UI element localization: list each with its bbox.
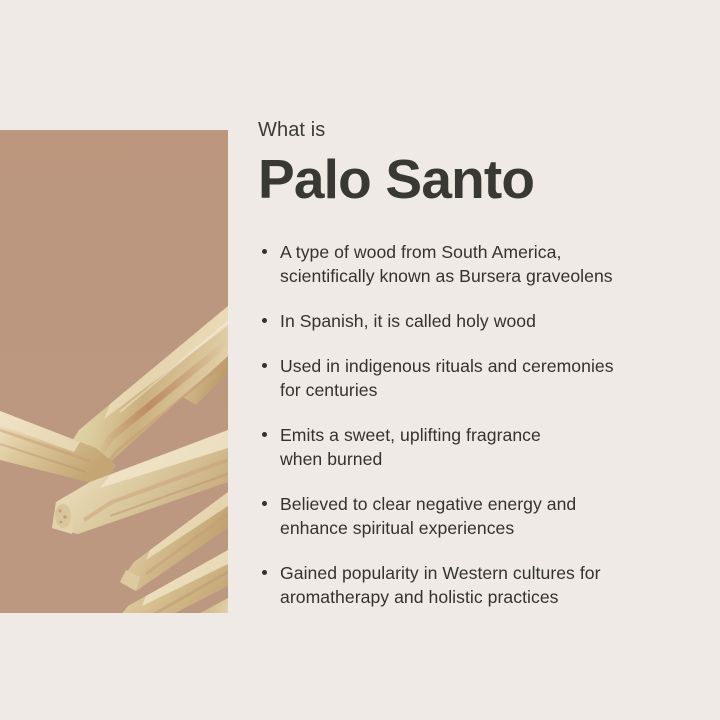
palo-santo-wood-illustration [0, 130, 228, 613]
bullet-dot-icon [262, 363, 267, 368]
bullet-dot-icon [262, 318, 267, 323]
page-title: Palo Santo [258, 148, 678, 210]
list-item-line: Used in indigenous rituals and ceremonie… [280, 354, 678, 378]
list-item: Believed to clear negative energy and en… [258, 492, 678, 540]
list-item: In Spanish, it is called holy wood [258, 309, 678, 333]
list-item-line: Gained popularity in Western cultures fo… [280, 561, 678, 585]
list-item-line: for centuries [280, 378, 678, 402]
list-item-line: Believed to clear negative energy and [280, 492, 678, 516]
eyebrow-label: What is [258, 118, 678, 142]
bullet-dot-icon [262, 501, 267, 506]
list-item: Emits a sweet, uplifting fragrance when … [258, 423, 678, 471]
list-item-line: when burned [280, 447, 678, 471]
list-item-line: A type of wood from South America, [280, 240, 678, 264]
bullet-dot-icon [262, 570, 267, 575]
list-item-line: In Spanish, it is called holy wood [280, 309, 678, 333]
bullet-dot-icon [262, 249, 267, 254]
bullet-dot-icon [262, 432, 267, 437]
list-item-line: enhance spiritual experiences [280, 516, 678, 540]
infographic-page: What is Palo Santo A type of wood from S… [0, 0, 720, 720]
list-item-line: Emits a sweet, uplifting fragrance [280, 423, 678, 447]
list-item-line: aromatherapy and holistic practices [280, 585, 678, 609]
text-column: What is Palo Santo A type of wood from S… [258, 118, 678, 609]
list-item: Used in indigenous rituals and ceremonie… [258, 354, 678, 402]
list-item-line: scientifically known as Bursera graveole… [280, 264, 678, 288]
palo-santo-photo [0, 130, 228, 613]
list-item: A type of wood from South America, scien… [258, 240, 678, 288]
list-item: Gained popularity in Western cultures fo… [258, 561, 678, 609]
facts-list: A type of wood from South America, scien… [258, 240, 678, 609]
